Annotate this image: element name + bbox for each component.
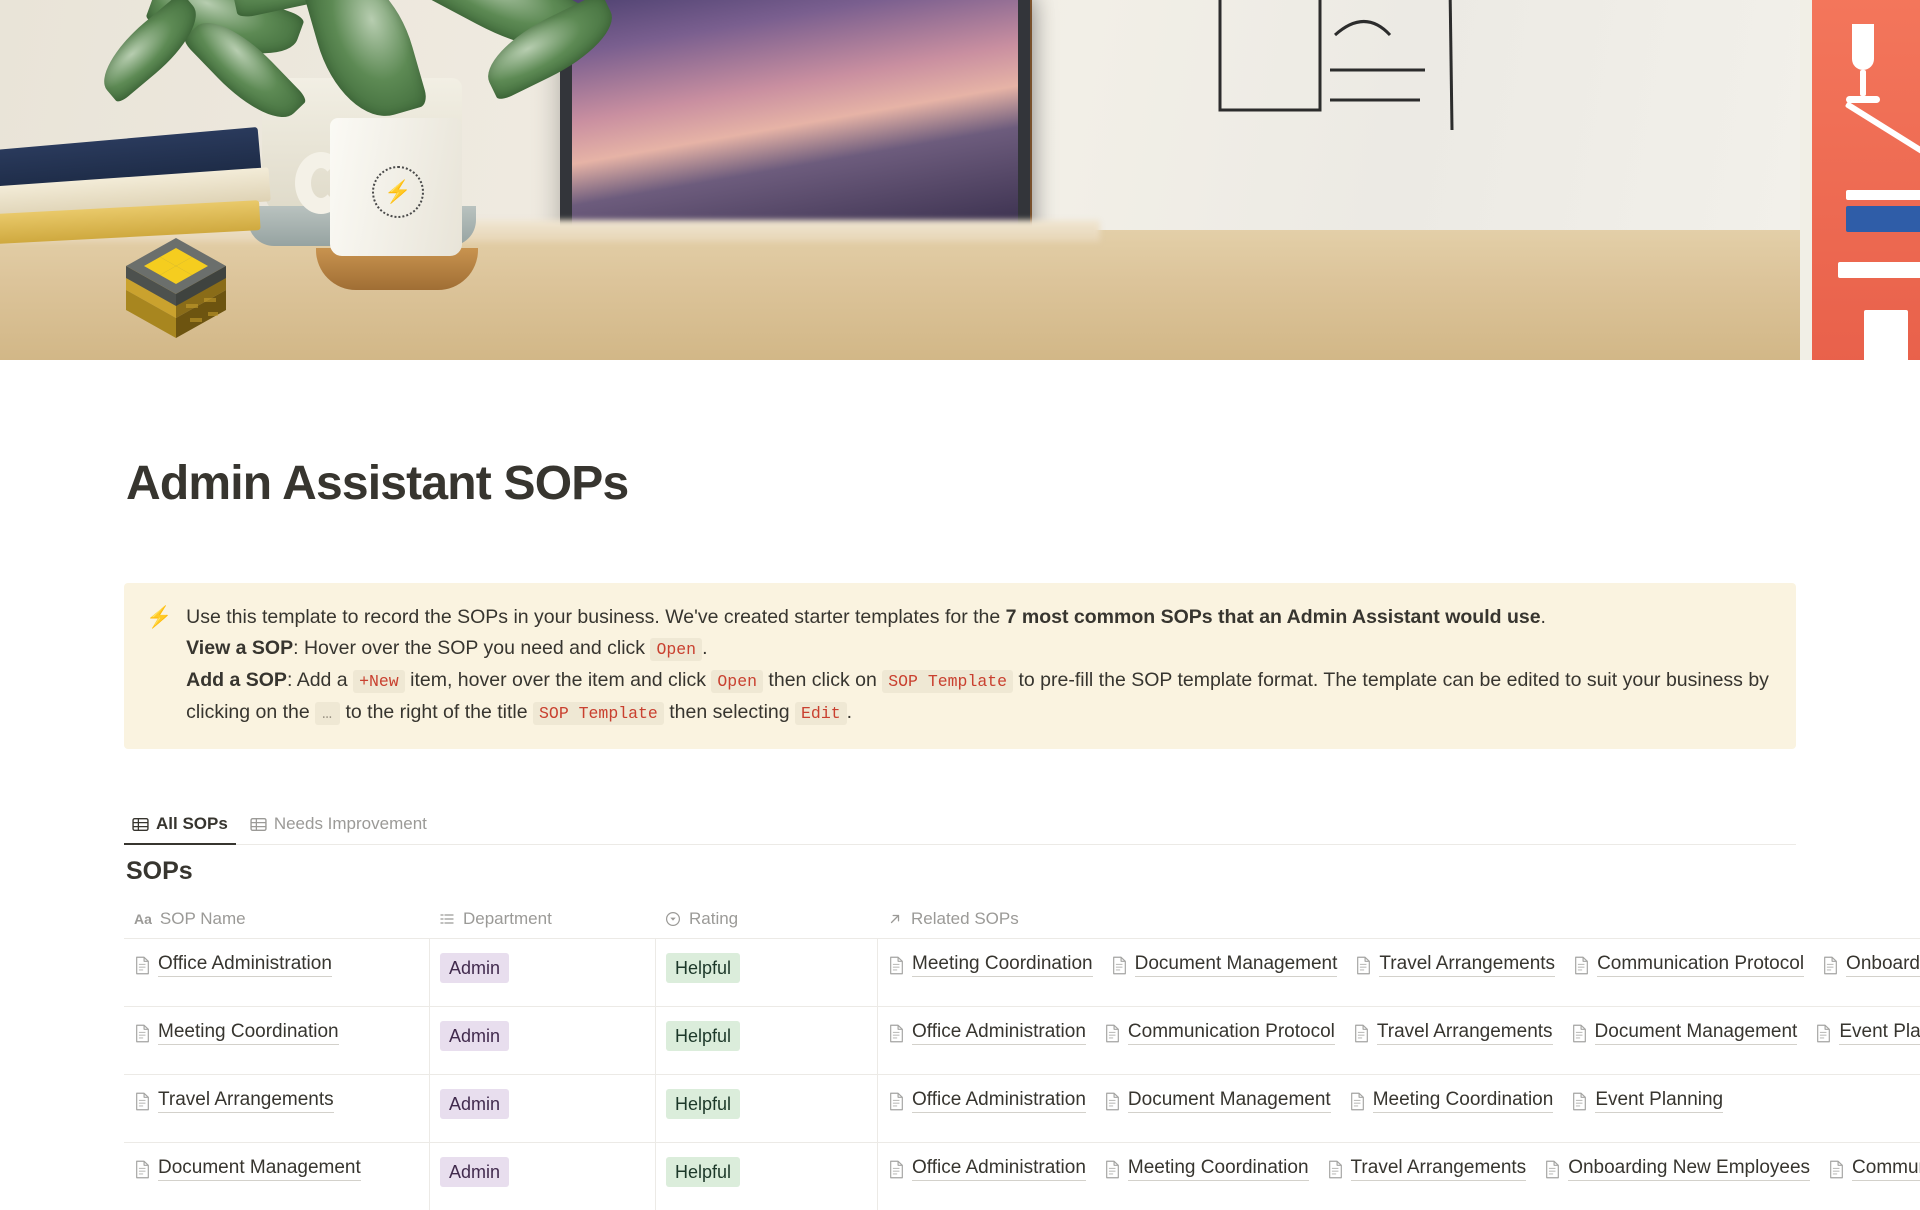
page-link-label: Meeting Coordination — [158, 1021, 339, 1045]
tab-needs-improvement-label: Needs Improvement — [274, 814, 427, 834]
sop-name-link[interactable]: Document Management — [134, 1157, 361, 1181]
page-link-label: Meeting Coordination — [1373, 1089, 1554, 1113]
department-tag: Admin — [440, 1021, 509, 1051]
mug-logo-icon: ⚡ — [372, 166, 424, 218]
department-tag: Admin — [440, 1089, 509, 1119]
cell-related-sops[interactable]: Office AdministrationCommunication Proto… — [877, 1007, 1920, 1074]
page-link-label: Event Planning — [1595, 1089, 1723, 1113]
callout-line1-pre: Use this template to record the SOPs in … — [186, 606, 1006, 628]
orange-poster — [1800, 0, 1920, 360]
code-new[interactable]: +New — [353, 670, 405, 693]
cell-sop-name[interactable]: Office Administration — [124, 939, 429, 1006]
page-link-label: Travel Arrangements — [158, 1089, 334, 1113]
code-ellipsis-menu[interactable]: … — [315, 702, 340, 725]
cell-related-sops[interactable]: Office AdministrationMeeting Coordinatio… — [877, 1143, 1920, 1210]
related-sop-link[interactable]: Document Management — [1571, 1021, 1798, 1045]
callout-line1-post: . — [1541, 606, 1546, 628]
code-open-2[interactable]: Open — [711, 670, 763, 693]
tab-all-sops-label: All SOPs — [156, 814, 228, 834]
column-header-department[interactable]: Department — [429, 909, 655, 929]
table-icon — [132, 816, 149, 833]
page-link-label: Event Planning — [1839, 1021, 1920, 1045]
page-file-icon — [134, 1092, 151, 1111]
table-icon — [250, 816, 267, 833]
department-tag: Admin — [440, 953, 509, 983]
database-title: SOPs — [126, 857, 193, 886]
page-file-icon — [1104, 1092, 1121, 1111]
cell-rating[interactable]: Helpful — [655, 1007, 877, 1074]
page-link-label: Document Management — [158, 1157, 361, 1181]
sop-name-link[interactable]: Office Administration — [134, 953, 332, 977]
cell-department[interactable]: Admin — [429, 939, 655, 1006]
page-file-icon — [1571, 1024, 1588, 1043]
related-sop-link[interactable]: Meeting Coordination — [1104, 1157, 1309, 1181]
isometric-cube-icon[interactable] — [120, 232, 232, 344]
page-link-label: Onboarding New Employees — [1568, 1157, 1810, 1181]
page-file-icon — [888, 1024, 905, 1043]
page-link-label: Onboarding New Employees — [1846, 953, 1920, 977]
callout-line2-label: View a SOP — [186, 637, 293, 659]
page-link-label: Document Management — [1135, 953, 1338, 977]
page-file-icon — [1544, 1160, 1561, 1179]
table-row[interactable]: Office AdministrationAdminHelpfulMeeting… — [124, 938, 1920, 1006]
cover-photo: ⚡ — [0, 0, 1920, 360]
page-link-label: Communication Protocol — [1597, 953, 1804, 977]
code-sop-template-2[interactable]: SOP Template — [533, 702, 664, 725]
column-header-rating-label: Rating — [689, 909, 738, 929]
page-file-icon — [134, 1024, 151, 1043]
related-sop-link[interactable]: Document Management — [1104, 1089, 1331, 1113]
code-sop-template-1[interactable]: SOP Template — [882, 670, 1013, 693]
rating-tag: Helpful — [666, 1157, 740, 1187]
department-tag: Admin — [440, 1157, 509, 1187]
page-link-label: Communication Protocol — [1852, 1157, 1920, 1181]
callout-line2-post: . — [702, 637, 707, 659]
page-file-icon — [1571, 1092, 1588, 1111]
page-link-label: Travel Arrangements — [1379, 953, 1555, 977]
related-sop-link[interactable]: Communication Protocol — [1104, 1021, 1335, 1045]
related-sops-list: Meeting CoordinationDocument ManagementT… — [888, 953, 1920, 977]
cell-related-sops[interactable]: Meeting CoordinationDocument ManagementT… — [877, 939, 1920, 1006]
callout-line3-e: to the right of the title — [340, 701, 533, 723]
cell-rating[interactable]: Helpful — [655, 939, 877, 1006]
text-aa-icon: Aa — [134, 911, 152, 927]
code-open-1[interactable]: Open — [650, 638, 702, 661]
sops-table: Aa SOP Name Department Rating — [124, 900, 1920, 1210]
column-header-sop-name[interactable]: Aa SOP Name — [124, 909, 429, 929]
page-link-label: Travel Arrangements — [1377, 1021, 1553, 1045]
page-file-icon — [1111, 956, 1128, 975]
cell-sop-name[interactable]: Document Management — [124, 1143, 429, 1210]
table-body: Office AdministrationAdminHelpfulMeeting… — [124, 938, 1920, 1210]
page-link-label: Document Management — [1595, 1021, 1798, 1045]
page-file-icon — [1327, 1160, 1344, 1179]
table-row[interactable]: Travel ArrangementsAdminHelpfulOffice Ad… — [124, 1074, 1920, 1142]
related-sops-list: Office AdministrationCommunication Proto… — [888, 1021, 1920, 1045]
rating-tag: Helpful — [666, 1021, 740, 1051]
page-file-icon — [1355, 956, 1372, 975]
page-title: Admin Assistant SOPs — [126, 458, 628, 511]
page-link-label: Office Administration — [912, 1089, 1086, 1113]
column-header-department-label: Department — [463, 909, 552, 929]
page-file-icon — [1822, 956, 1839, 975]
page-file-icon — [134, 956, 151, 975]
page-link-label: Office Administration — [912, 1157, 1086, 1181]
page-link-label: Office Administration — [158, 953, 332, 977]
related-sop-link[interactable]: Office Administration — [888, 1021, 1086, 1045]
related-sop-link[interactable]: Document Management — [1111, 953, 1338, 977]
related-sop-link[interactable]: Communication Protocol — [1573, 953, 1804, 977]
tab-all-sops[interactable]: All SOPs — [124, 810, 236, 845]
related-sop-link[interactable]: Office Administration — [888, 1157, 1086, 1181]
callout-line1-bold: 7 most common SOPs that an Admin Assista… — [1006, 606, 1541, 628]
page-link-label: Meeting Coordination — [912, 953, 1093, 977]
related-sop-link[interactable]: Meeting Coordination — [1349, 1089, 1554, 1113]
desk-surface — [0, 230, 1920, 360]
page-file-icon — [1828, 1160, 1845, 1179]
tab-needs-improvement[interactable]: Needs Improvement — [242, 810, 435, 845]
callout-text: Use this template to record the SOPs in … — [186, 602, 1774, 729]
related-sop-link[interactable]: Onboarding New Employees — [1822, 953, 1920, 977]
page-file-icon — [134, 1160, 151, 1179]
callout-line3-a: : Add a — [287, 669, 353, 691]
multiselect-list-icon — [439, 911, 455, 927]
page-file-icon — [1573, 956, 1590, 975]
related-sops-list: Office AdministrationDocument Management… — [888, 1089, 1723, 1113]
coffee-mug: ⚡ — [330, 118, 462, 256]
page-link-label: Meeting Coordination — [1128, 1157, 1309, 1181]
related-sop-link[interactable]: Event Planning — [1815, 1021, 1920, 1045]
table-row[interactable]: Meeting CoordinationAdminHelpfulOffice A… — [124, 1006, 1920, 1074]
page-file-icon — [1815, 1024, 1832, 1043]
page-cover: ⚡ — [0, 0, 1920, 360]
page-file-icon — [1104, 1160, 1121, 1179]
rating-tag: Helpful — [666, 1089, 740, 1119]
page-file-icon — [888, 956, 905, 975]
related-sop-link[interactable]: Office Administration — [888, 1089, 1086, 1113]
table-header-row: Aa SOP Name Department Rating — [124, 900, 1920, 938]
code-edit[interactable]: Edit — [795, 702, 847, 725]
page-file-icon — [888, 1160, 905, 1179]
lightning-bolt-icon: ⚡ — [146, 602, 172, 729]
column-header-rating[interactable]: Rating — [655, 909, 877, 929]
cell-related-sops[interactable]: Office AdministrationDocument Management… — [877, 1075, 1920, 1142]
cell-rating[interactable]: Helpful — [655, 1143, 877, 1210]
related-sop-link[interactable]: Travel Arrangements — [1327, 1157, 1527, 1181]
cell-rating[interactable]: Helpful — [655, 1075, 877, 1142]
related-sop-link[interactable]: Event Planning — [1571, 1089, 1723, 1113]
page-link-label: Document Management — [1128, 1089, 1331, 1113]
callout-line2-pre: : Hover over the SOP you need and click — [293, 637, 650, 659]
page-link-label: Office Administration — [912, 1021, 1086, 1045]
cell-department[interactable]: Admin — [429, 1143, 655, 1210]
callout-line3-label: Add a SOP — [186, 669, 287, 691]
table-row[interactable]: Document ManagementAdminHelpfulOffice Ad… — [124, 1142, 1920, 1210]
related-sops-list: Office AdministrationMeeting Coordinatio… — [888, 1157, 1920, 1181]
select-circle-icon — [665, 911, 681, 927]
callout-line3-c: then click on — [763, 669, 882, 691]
cell-sop-name[interactable]: Travel Arrangements — [124, 1075, 429, 1142]
sop-name-link[interactable]: Travel Arrangements — [134, 1089, 334, 1113]
relation-arrow-icon — [887, 911, 903, 927]
page-file-icon — [888, 1092, 905, 1111]
cell-department[interactable]: Admin — [429, 1075, 655, 1142]
related-sop-link[interactable]: Travel Arrangements — [1353, 1021, 1553, 1045]
page-link-label: Travel Arrangements — [1351, 1157, 1527, 1181]
column-header-sop-name-label: SOP Name — [160, 909, 246, 929]
related-sop-link[interactable]: Onboarding New Employees — [1544, 1157, 1810, 1181]
related-sop-link[interactable]: Meeting Coordination — [888, 953, 1093, 977]
callout-line3-f: then selecting — [664, 701, 795, 723]
cell-sop-name[interactable]: Meeting Coordination — [124, 1007, 429, 1074]
related-sop-link[interactable]: Travel Arrangements — [1355, 953, 1555, 977]
callout-line3-g: . — [847, 701, 852, 723]
sop-name-link[interactable]: Meeting Coordination — [134, 1021, 339, 1045]
column-header-related-sops-label: Related SOPs — [911, 909, 1019, 929]
callout-line3-b: item, hover over the item and click — [405, 669, 712, 691]
rating-tag: Helpful — [666, 953, 740, 983]
cell-department[interactable]: Admin — [429, 1007, 655, 1074]
column-header-related-sops[interactable]: Related SOPs — [877, 909, 1920, 929]
page-file-icon — [1353, 1024, 1370, 1043]
page-link-label: Communication Protocol — [1128, 1021, 1335, 1045]
page-file-icon — [1104, 1024, 1121, 1043]
page-file-icon — [1349, 1092, 1366, 1111]
related-sop-link[interactable]: Communication Protocol — [1828, 1157, 1920, 1181]
info-callout: ⚡ Use this template to record the SOPs i… — [124, 583, 1796, 749]
database-view-tabs: All SOPs Needs Improvement — [124, 805, 1796, 845]
